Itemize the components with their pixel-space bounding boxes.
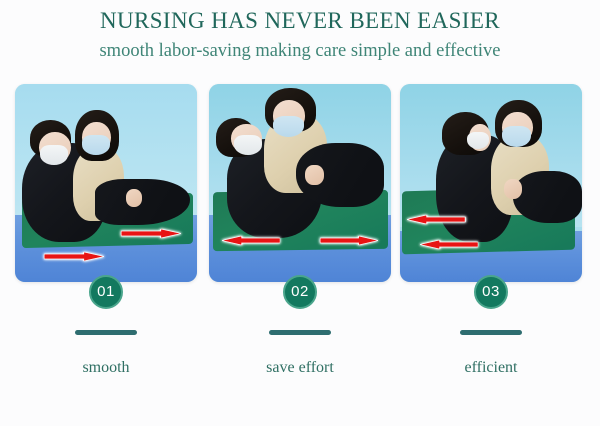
arrow-left-lower [420,240,478,249]
photo-caregiver-mask [82,135,109,155]
caption-divider-2 [269,330,331,335]
step-badge-2: 02 [283,275,317,309]
page-title: NURSING HAS NEVER BEEN EASIER [0,7,600,35]
photo-patient-mask [40,145,67,165]
photo-scene-3 [400,84,582,282]
caption-group-3: efficient [400,330,582,377]
caption-divider-1 [75,330,137,335]
caption-label-2: save effort [209,359,391,377]
arrow-left-icon [222,236,280,245]
photo-panel-1[interactable] [15,84,197,282]
photo-patient-legs [513,171,582,222]
photo-caregiver-hand [126,189,142,207]
arrow-left-icon [407,215,465,224]
caption-divider-3 [460,330,522,335]
photo-scene-2 [209,84,391,282]
caption-row: smooth save effort efficient [0,330,600,400]
step-badge-3: 03 [474,275,508,309]
caption-group-1: smooth [15,330,197,377]
arrow-left [222,236,280,245]
arrow-right-lower [44,252,104,261]
arrow-right-icon [44,252,104,261]
arrow-left-upper [407,215,465,224]
arrow-right-icon [320,236,378,245]
photo-panel-row [0,84,600,284]
photo-scene-1 [15,84,197,282]
photo-panel-2[interactable] [209,84,391,282]
step-badge-1: 01 [89,275,123,309]
arrow-right-upper [121,229,181,238]
arrow-left-icon [420,240,478,249]
photo-caregiver-hand [504,179,522,199]
photo-panel-3[interactable] [400,84,582,282]
arrow-right-icon [121,229,181,238]
photo-caregiver-hand [305,165,323,185]
caption-label-3: efficient [400,359,582,377]
caption-label-1: smooth [15,359,197,377]
page-header: NURSING HAS NEVER BEEN EASIER smooth lab… [0,0,600,64]
caption-group-2: save effort [209,330,391,377]
page-subtitle: smooth labor-saving making care simple a… [0,38,600,64]
arrow-right [320,236,378,245]
